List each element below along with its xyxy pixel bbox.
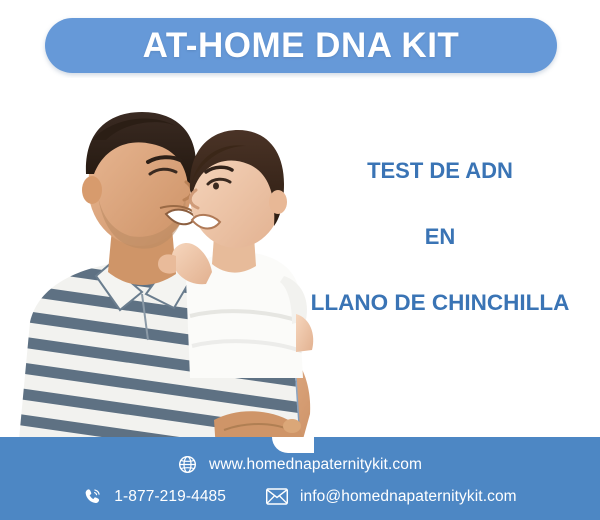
footer-email-block[interactable]: info@homednapaternitykit.com (266, 488, 517, 506)
family-photo (0, 78, 340, 450)
footer-email-text[interactable]: info@homednapaternitykit.com (300, 488, 517, 506)
family-photo-illustration (0, 78, 340, 450)
footer-phone-text[interactable]: 1-877-219-4485 (114, 488, 226, 506)
globe-icon (178, 455, 197, 474)
footer-website-row: www.homednapaternitykit.com (0, 455, 600, 474)
footer-contact-row: 1-877-219-4485 info@homednapaternitykit.… (0, 487, 600, 506)
headline-line-test-de-adn: TEST DE ADN (290, 160, 590, 182)
footer-phone-block[interactable]: 1-877-219-4485 (83, 487, 226, 506)
phone-icon (83, 487, 102, 506)
header-title: AT-HOME DNA KIT (143, 28, 460, 63)
headline-block: TEST DE ADN EN LLANO DE CHINCHILLA (290, 160, 590, 315)
envelope-icon (266, 488, 288, 505)
headline-line-location: LLANO DE CHINCHILLA (290, 292, 590, 315)
poster: AT-HOME DNA KIT (0, 0, 600, 520)
headline-line-en: EN (290, 226, 590, 248)
footer-website-text[interactable]: www.homednapaternitykit.com (209, 456, 422, 474)
header-banner: AT-HOME DNA KIT (45, 18, 557, 73)
